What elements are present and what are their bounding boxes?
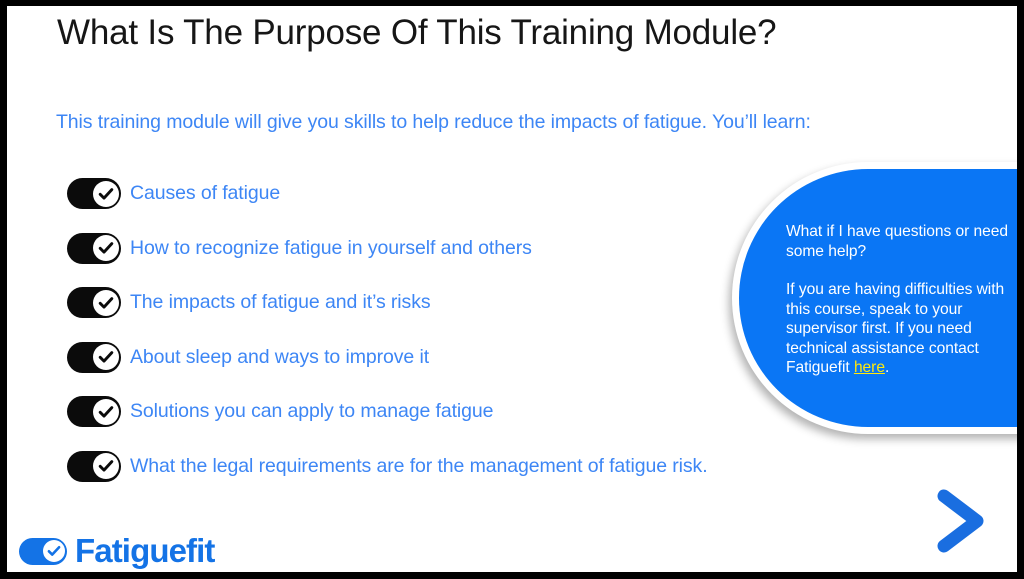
list-item-label: Causes of fatigue [130, 177, 280, 209]
toggle-check-icon[interactable] [67, 287, 121, 318]
help-link[interactable]: here [854, 359, 885, 376]
list-item-label: Solutions you can apply to manage fatigu… [130, 395, 493, 427]
learning-objectives-list: Causes of fatigue How to recognize fatig… [67, 177, 807, 504]
list-item-label: What the legal requirements are for the … [130, 450, 708, 482]
toggle-check-icon [19, 538, 67, 565]
list-item-label: The impacts of fatigue and it’s risks [130, 286, 431, 318]
logo-knob [43, 540, 65, 562]
brand-logo: Fatiguefit [19, 532, 214, 570]
list-item[interactable]: The impacts of fatigue and it’s risks [67, 286, 807, 341]
list-item-label: How to recognize fatigue in yourself and… [130, 232, 532, 264]
callout-body-after: . [885, 359, 889, 376]
callout-question: What if I have questions or need some he… [786, 222, 1017, 261]
toggle-knob [93, 344, 119, 370]
toggle-knob [93, 235, 119, 261]
page-title: What Is The Purpose Of This Training Mod… [57, 13, 776, 53]
toggle-check-icon[interactable] [67, 178, 121, 209]
toggle-knob [93, 399, 119, 425]
chevron-right-icon[interactable] [933, 488, 989, 554]
toggle-knob [93, 290, 119, 316]
brand-name: Fatiguefit [75, 532, 214, 570]
intro-paragraph: This training module will give you skill… [56, 111, 811, 134]
toggle-check-icon[interactable] [67, 342, 121, 373]
toggle-knob [93, 181, 119, 207]
slide-canvas: What Is The Purpose Of This Training Mod… [7, 6, 1017, 572]
toggle-knob [93, 453, 119, 479]
list-item[interactable]: What the legal requirements are for the … [67, 450, 807, 505]
callout-body: If you are having difficulties with this… [786, 280, 1017, 378]
toggle-check-icon[interactable] [67, 396, 121, 427]
list-item[interactable]: How to recognize fatigue in yourself and… [67, 232, 807, 287]
help-callout-panel: What if I have questions or need some he… [732, 162, 1017, 442]
toggle-check-icon[interactable] [67, 233, 121, 264]
list-item[interactable]: Causes of fatigue [67, 177, 807, 232]
list-item-label: About sleep and ways to improve it [130, 341, 429, 373]
list-item[interactable]: About sleep and ways to improve it [67, 341, 807, 396]
callout-body-before: If you are having difficulties with this… [786, 281, 1004, 376]
toggle-check-icon[interactable] [67, 451, 121, 482]
callout-text: What if I have questions or need some he… [786, 222, 1017, 378]
list-item[interactable]: Solutions you can apply to manage fatigu… [67, 395, 807, 450]
